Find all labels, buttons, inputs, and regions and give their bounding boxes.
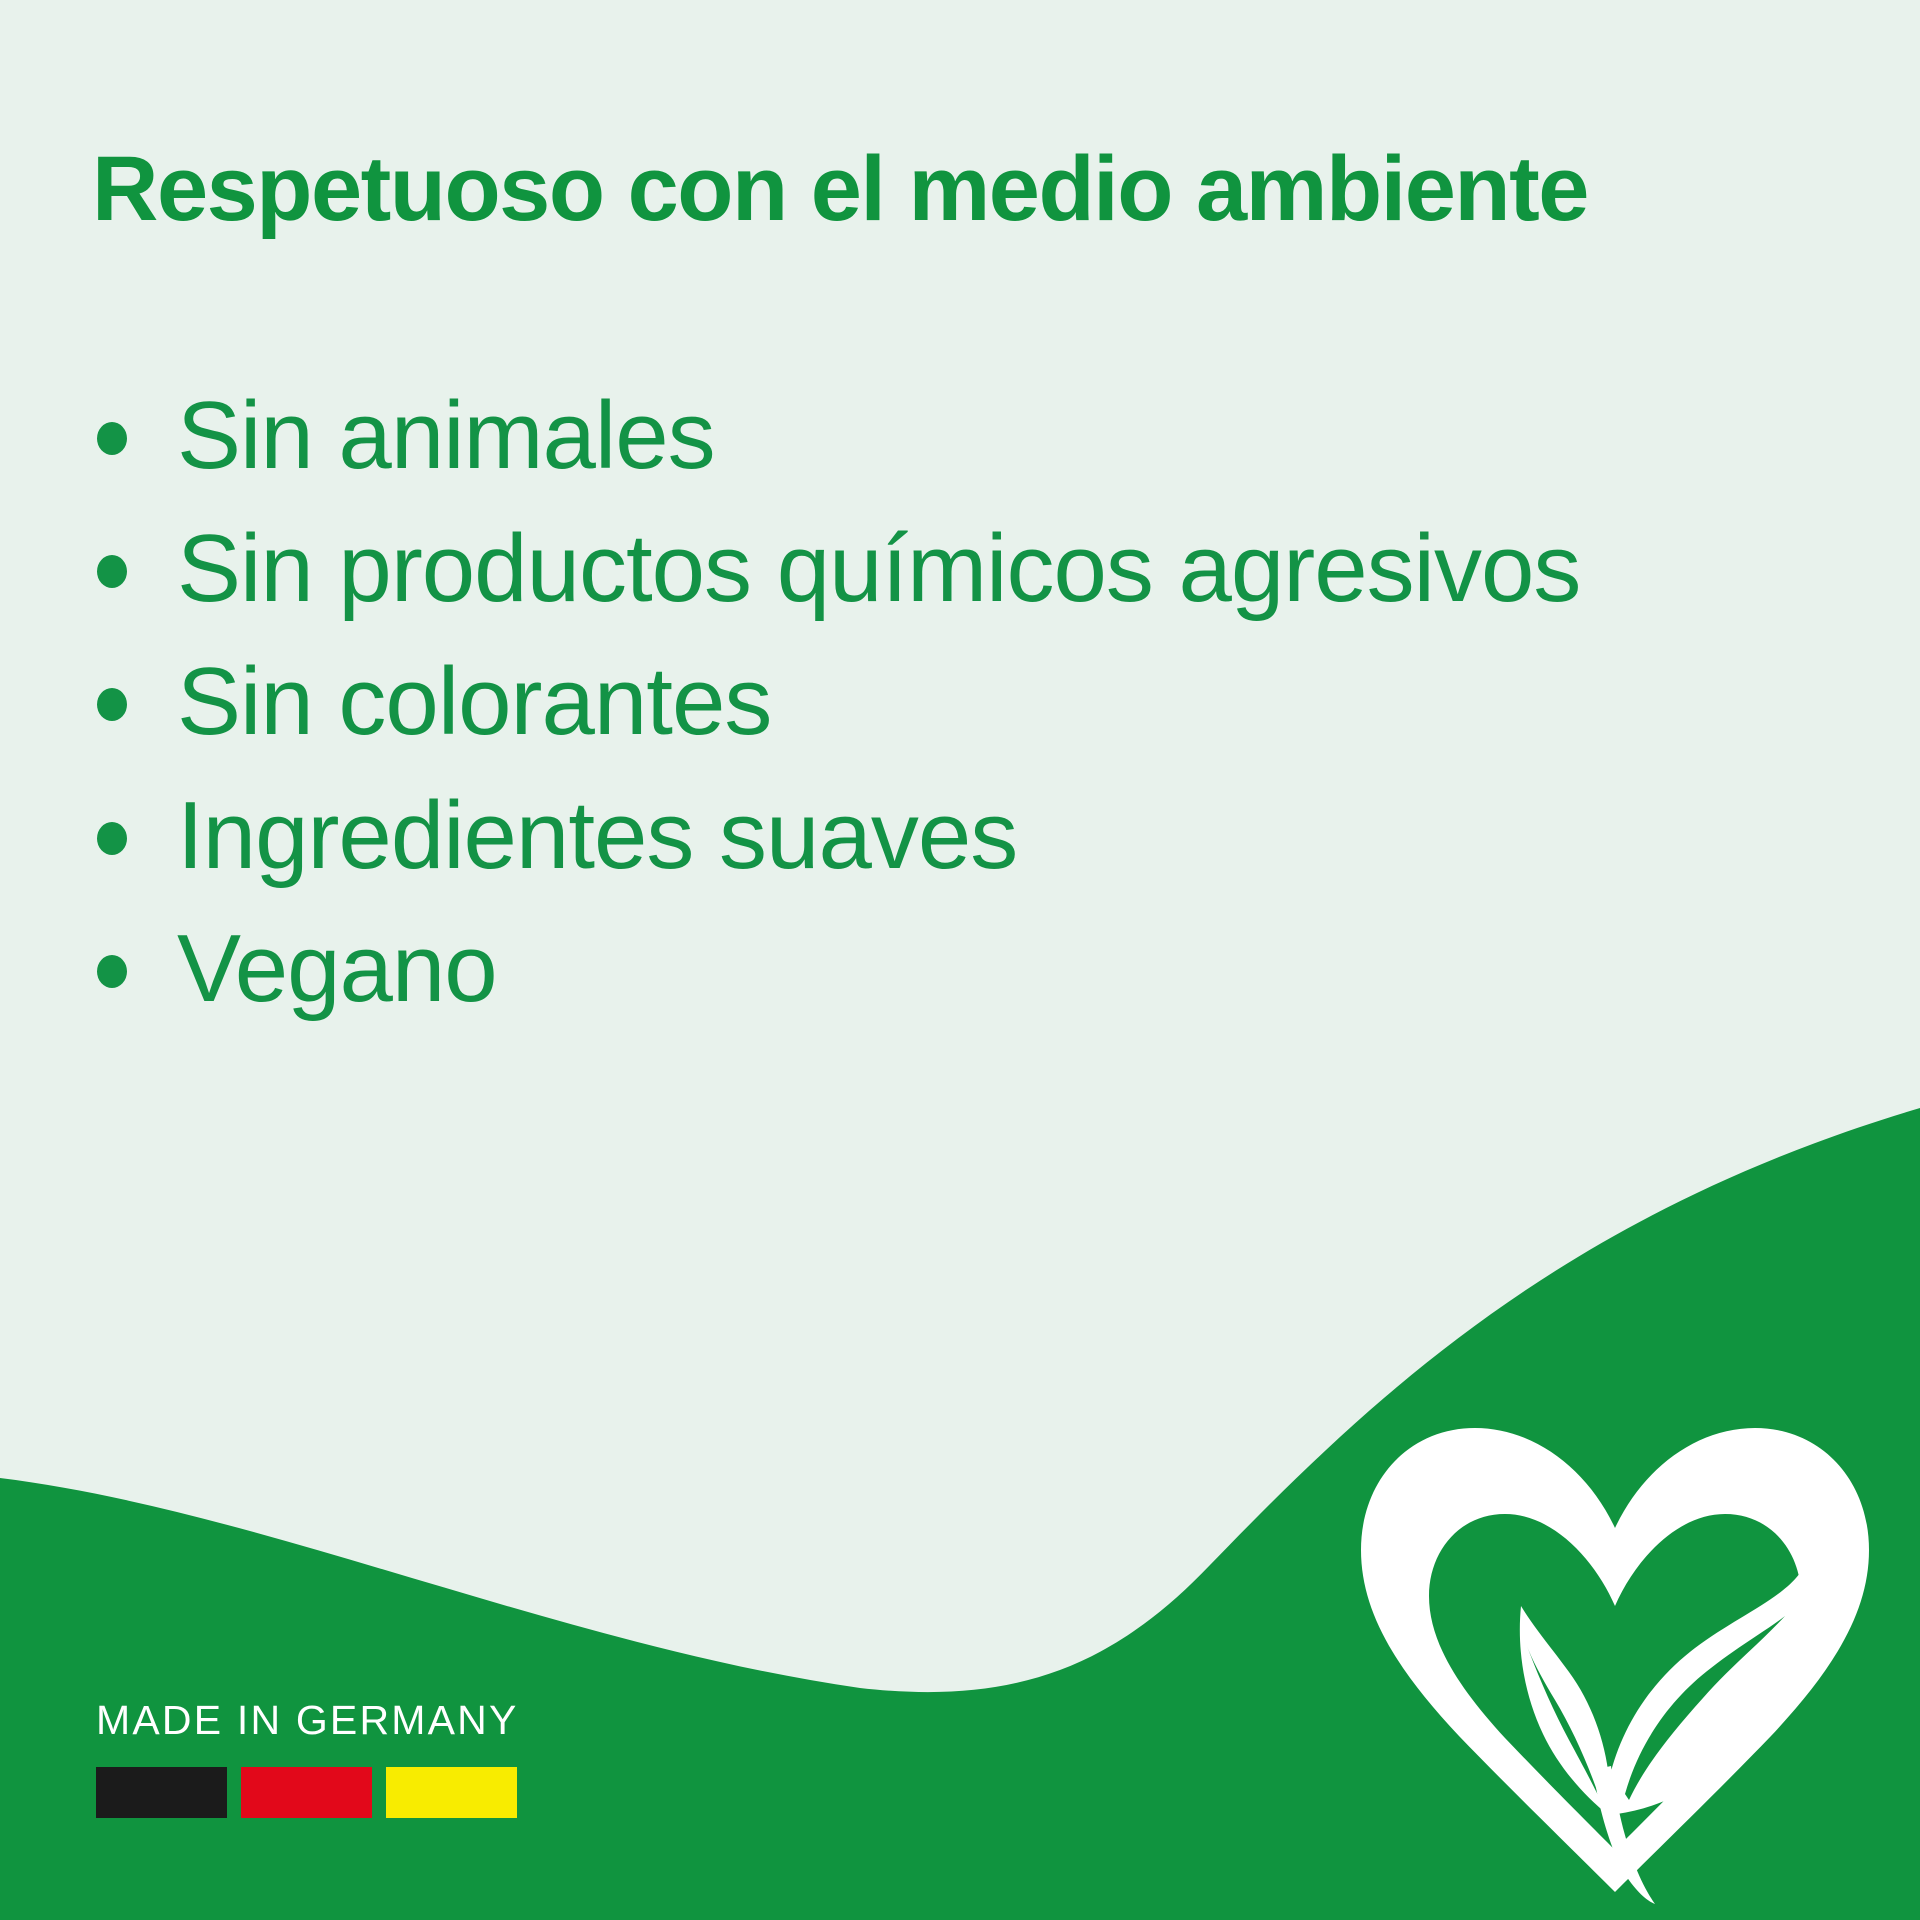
bullet-dot-icon [97, 955, 127, 988]
benefit-label: Sin productos químicos agresivos [177, 515, 1580, 622]
benefit-label: Sin colorantes [177, 648, 771, 755]
bullet-dot-icon [97, 422, 127, 455]
flag-bar-black [96, 1767, 227, 1818]
list-item: Sin colorantes [92, 644, 1732, 759]
made-in-germany-badge: MADE IN GERMANY [96, 1700, 716, 1818]
list-item: Sin productos químicos agresivos [92, 511, 1732, 626]
eco-benefits-poster: Respetuoso con el medio ambiente Sin ani… [0, 0, 1920, 1920]
flag-bar-red [241, 1767, 372, 1818]
flag-bar-yellow [386, 1767, 517, 1818]
benefit-label: Sin animales [177, 382, 715, 489]
benefits-list: Sin animales Sin productos químicos agre… [92, 378, 1732, 1044]
page-title: Respetuoso con el medio ambiente [92, 140, 1852, 239]
heart-leaf-logo [1355, 1410, 1875, 1910]
benefit-label: Ingredientes suaves [177, 782, 1017, 889]
made-in-germany-label: MADE IN GERMANY [96, 1700, 716, 1741]
german-flag-bars [96, 1767, 716, 1818]
list-item: Vegano [92, 911, 1732, 1026]
list-item: Sin animales [92, 378, 1732, 493]
bullet-dot-icon [97, 688, 127, 721]
list-item: Ingredientes suaves [92, 778, 1732, 893]
bullet-dot-icon [97, 822, 127, 855]
benefit-label: Vegano [177, 915, 497, 1022]
bullet-dot-icon [97, 555, 127, 588]
